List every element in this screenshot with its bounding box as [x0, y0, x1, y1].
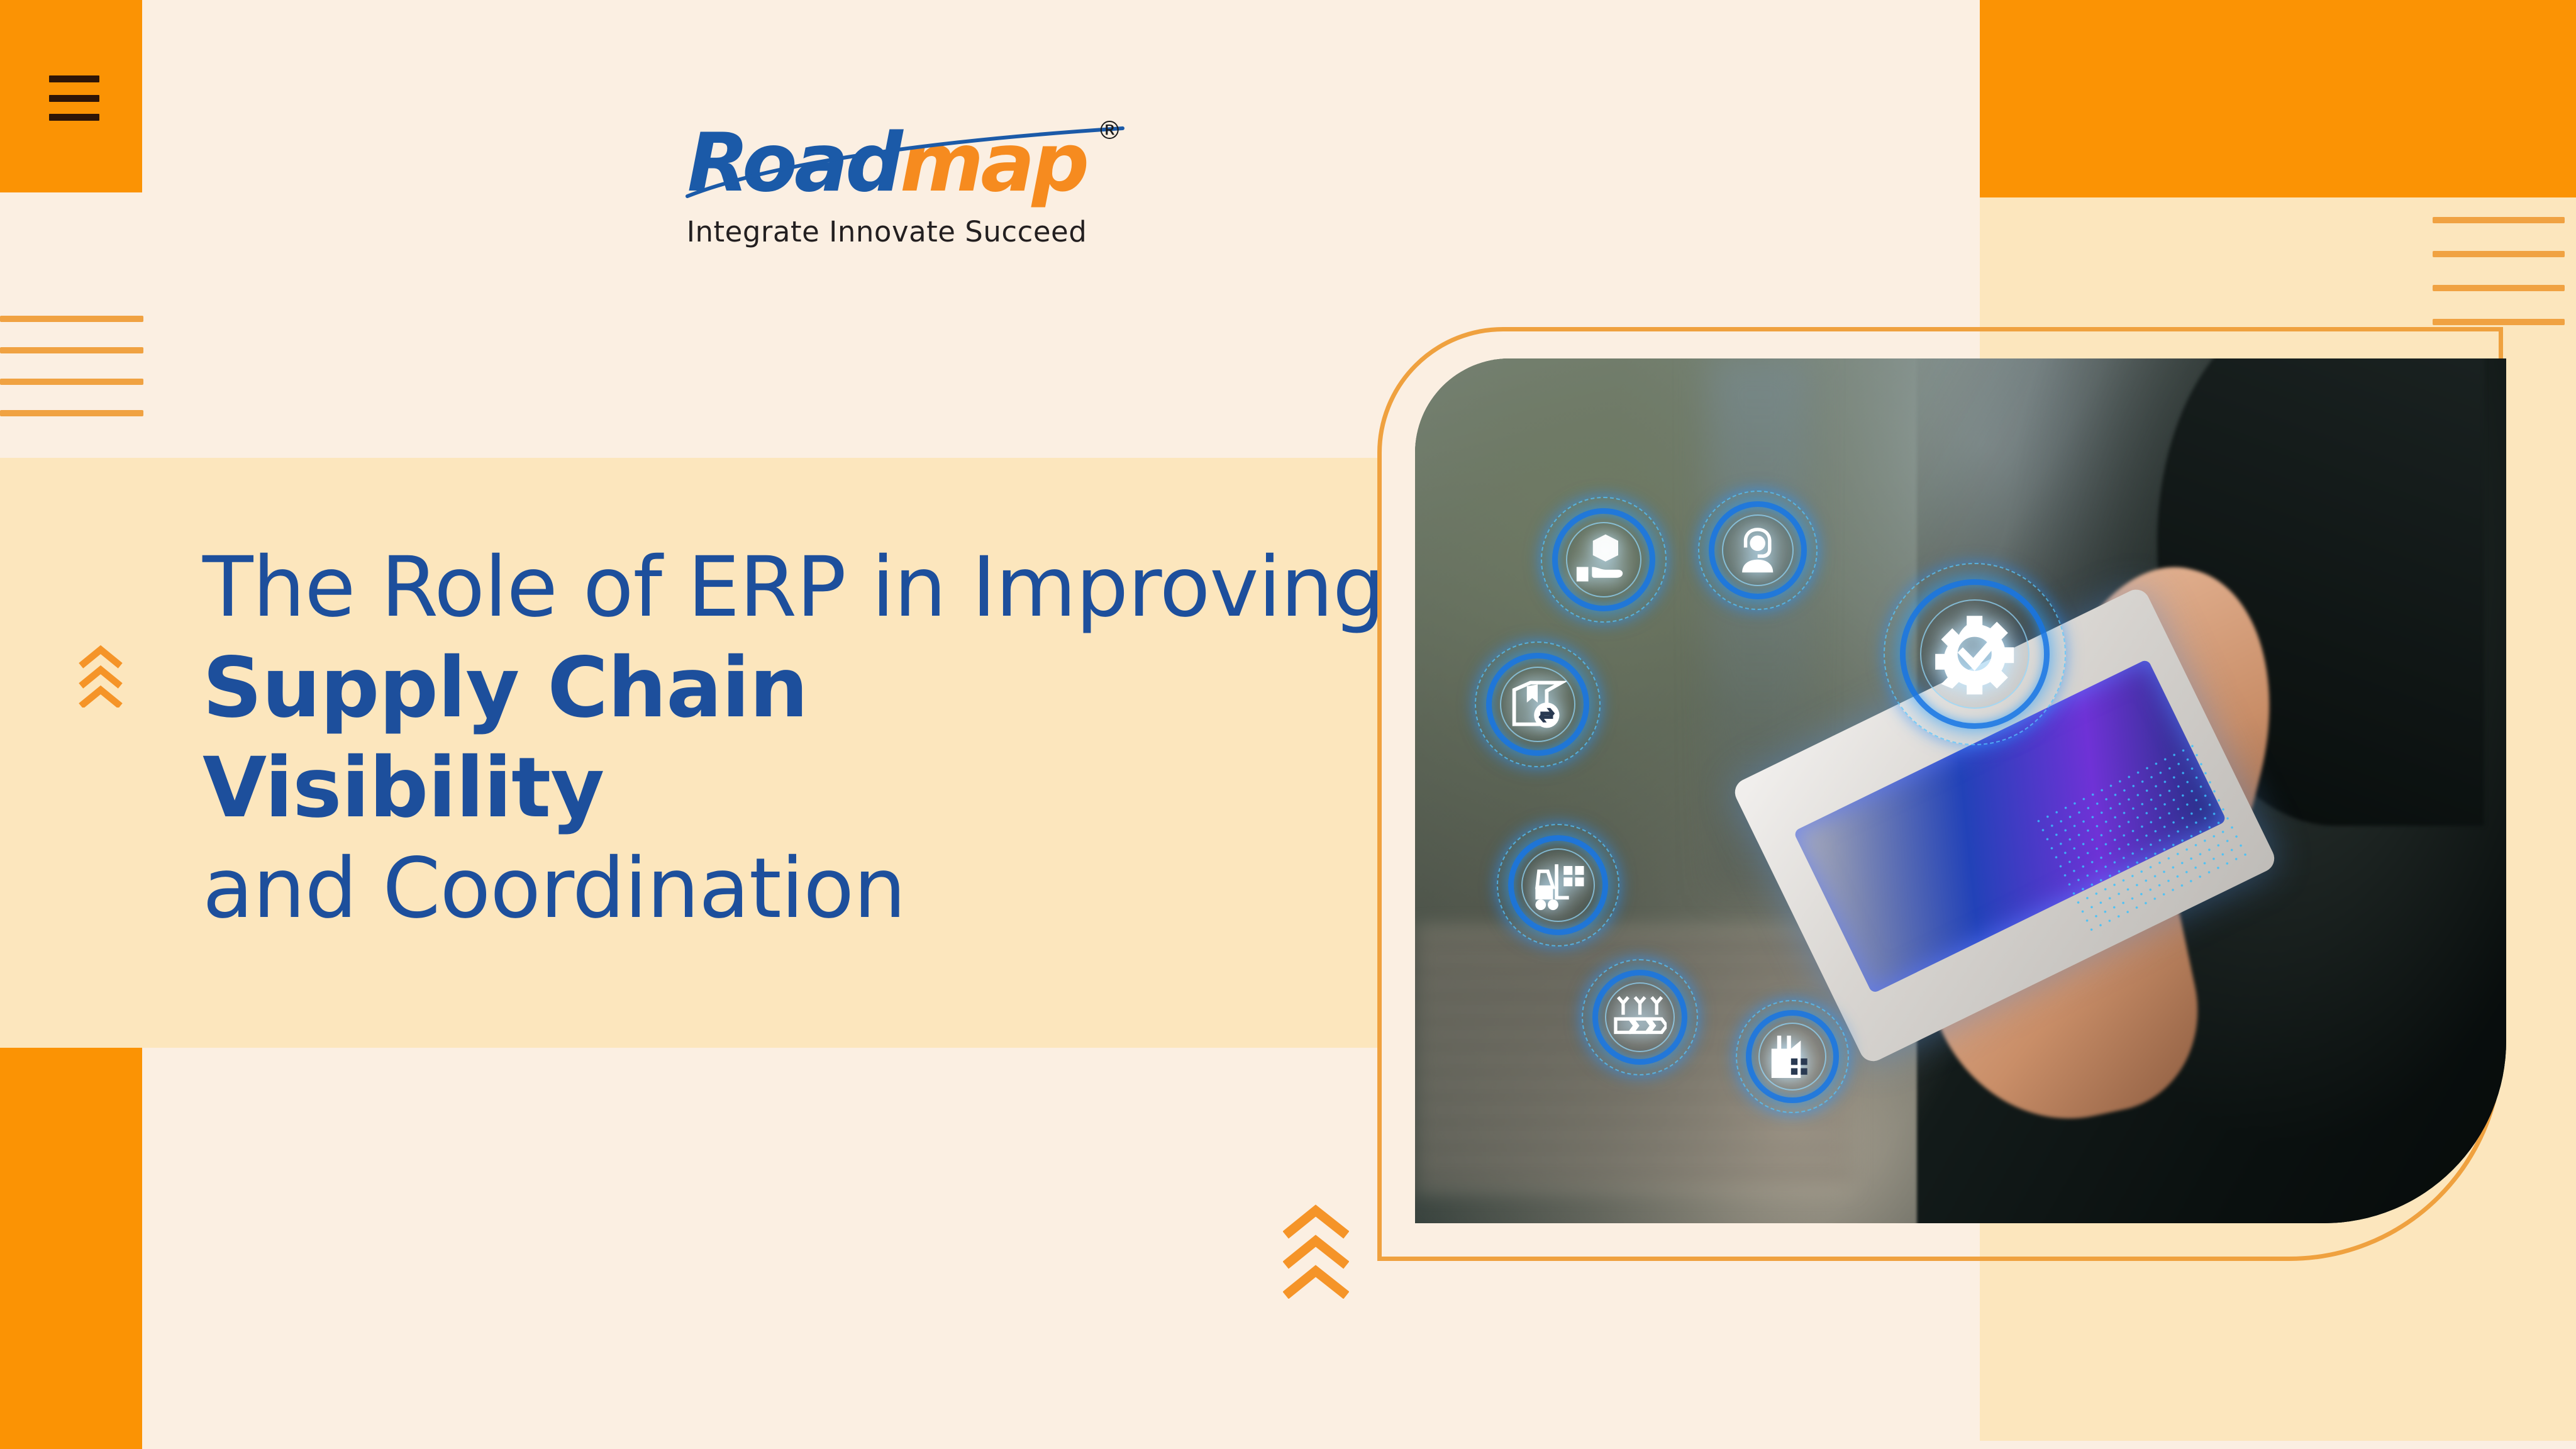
hamburger-bar — [49, 75, 99, 82]
forklift-icon — [1497, 824, 1619, 947]
factory-icon — [1736, 1000, 1849, 1113]
hud-glyph — [1509, 675, 1567, 733]
decor-line — [2433, 285, 2565, 291]
decor-line — [2433, 217, 2565, 223]
logo-wordmark: Roadmap ® — [687, 123, 1087, 204]
headline-line-1: The Role of ERP in Improving — [203, 538, 1372, 638]
hud-glyph — [1933, 612, 2016, 696]
page-title: The Role of ERP in Improving Supply Chai… — [203, 538, 1372, 940]
registered-trademark-icon: ® — [1097, 118, 1119, 143]
brand-tagline: Integrate Innovate Succeed — [648, 215, 1126, 248]
decor-block-orange-top-right — [1980, 0, 2576, 197]
support-headset-agent-icon — [1698, 491, 1818, 610]
hud-glyph — [1613, 991, 1667, 1044]
brand-logo[interactable]: Roadmap ® Integrate Innovate Succeed — [648, 123, 1126, 248]
logo-word-road: Road — [687, 116, 900, 210]
package-return-exchange-icon — [1475, 641, 1601, 767]
hamburger-bar — [49, 95, 99, 102]
hud-glyph — [1730, 523, 1785, 577]
decor-line — [0, 316, 143, 322]
hud-glyph — [1767, 1031, 1819, 1083]
decor-line — [0, 410, 143, 416]
hud-glyph — [1575, 531, 1633, 589]
decor-lines-left — [0, 316, 143, 441]
headline-line-4: and Coordination — [203, 839, 1372, 940]
chevron-double-up-icon-large — [1283, 1204, 1349, 1299]
hamburger-bar — [49, 114, 99, 121]
decor-line — [0, 347, 143, 353]
logo-word-map: map — [900, 116, 1086, 210]
delivery-box-in-hand-icon — [1541, 497, 1667, 623]
gear-check-icon — [1884, 563, 2066, 745]
hud-glyph — [1530, 857, 1587, 914]
headline-line-2: Supply Chain — [203, 638, 1372, 739]
decor-line — [2433, 251, 2565, 257]
hamburger-menu-icon[interactable] — [49, 75, 99, 121]
decor-line — [0, 379, 143, 385]
hero-image — [1415, 358, 2506, 1223]
decor-line — [2433, 319, 2565, 325]
chevron-double-up-icon-small — [79, 645, 123, 708]
process-workflow-icon — [1582, 959, 1698, 1075]
headline-line-3: Visibility — [203, 738, 1372, 839]
